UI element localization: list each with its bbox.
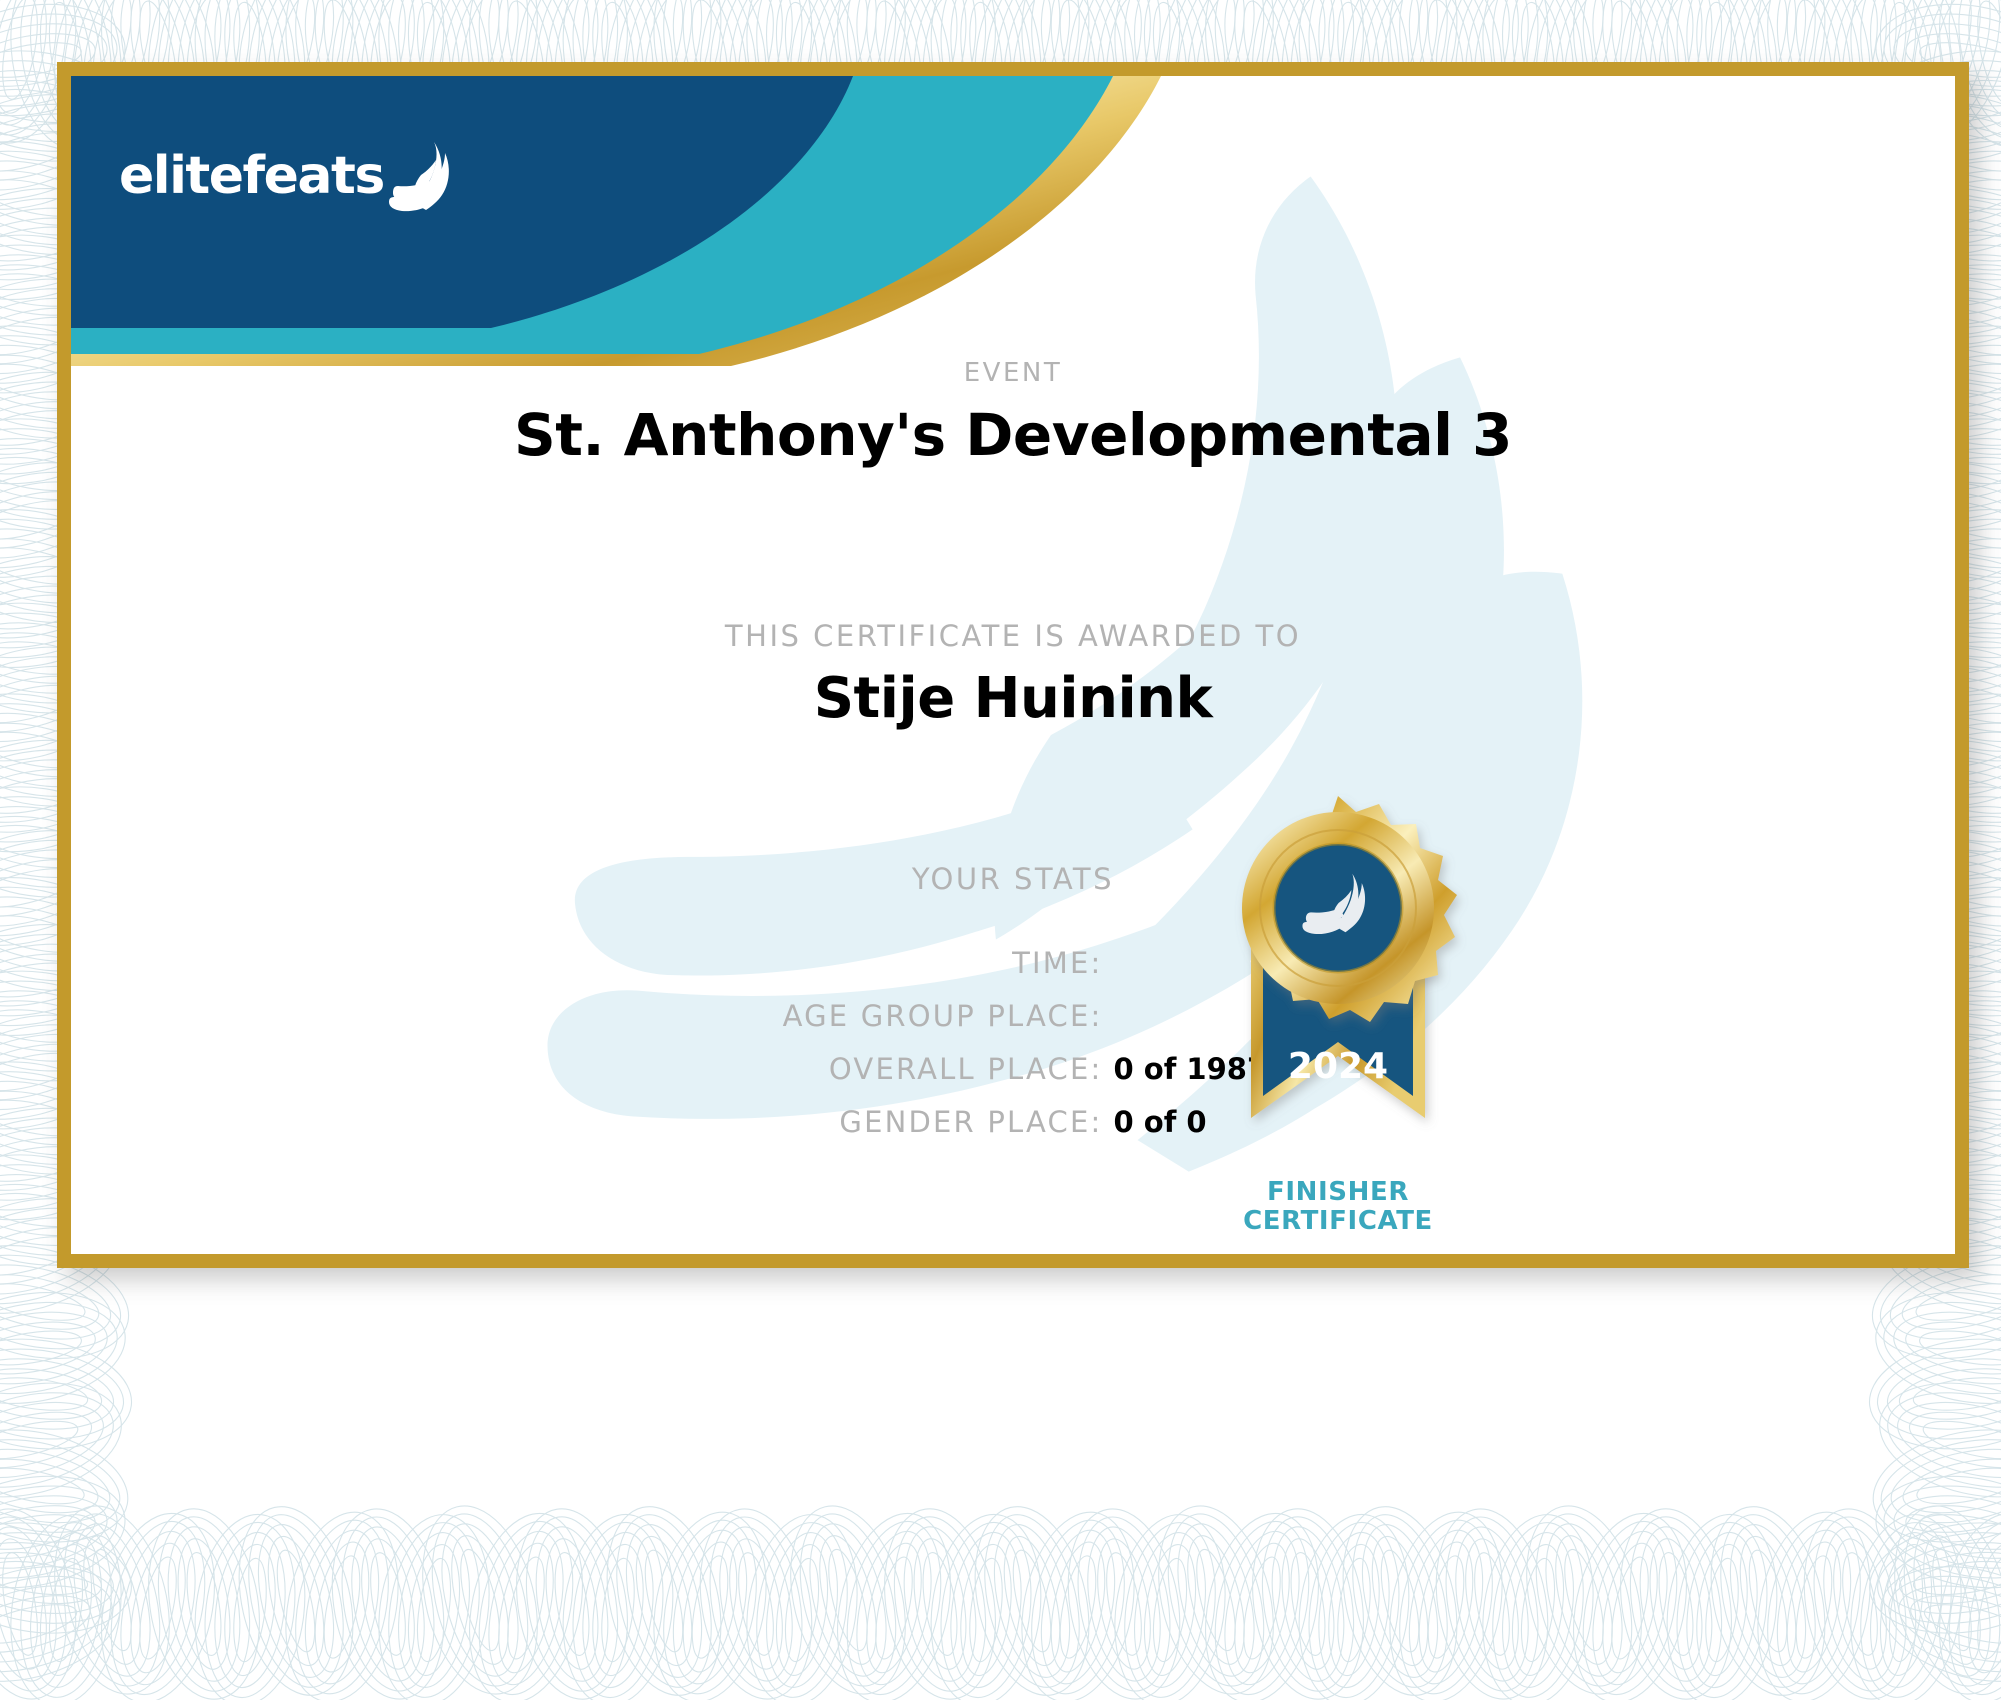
certificate-gold-frame: elitefeats EVENT St. Anthony's Developme…	[57, 62, 1969, 1268]
stat-row-time: TIME:	[71, 946, 1955, 999]
seal-caption: FINISHER CERTIFICATE	[1193, 1178, 1483, 1236]
seal-caption-line1: FINISHER	[1193, 1178, 1483, 1207]
stat-row-gender-place: GENDER PLACE: 0 of 0	[71, 1105, 1955, 1158]
finisher-seal: 2024 FINISHER CERTIFICATE	[1193, 788, 1483, 1218]
stat-key-time: TIME:	[573, 946, 1103, 980]
stat-row-age-group-place: AGE GROUP PLACE:	[71, 999, 1955, 1052]
certificate-canvas: elitefeats EVENT St. Anthony's Developme…	[71, 76, 1955, 1254]
elitefeats-logo: elitefeats	[119, 131, 479, 221]
stats-list: TIME: AGE GROUP PLACE: OVERALL PLACE: 0 …	[71, 946, 1955, 1158]
logo-wordmark: elitefeats	[119, 150, 384, 202]
stat-key-overall-place: OVERALL PLACE:	[573, 1052, 1103, 1086]
certificate-page: elitefeats EVENT St. Anthony's Developme…	[0, 0, 2001, 1700]
event-name: St. Anthony's Developmental 3	[71, 401, 1955, 469]
seal-caption-line2: CERTIFICATE	[1193, 1207, 1483, 1236]
header-swoosh-graphic	[71, 76, 1955, 366]
award-medal-icon: 2024	[1193, 788, 1483, 1188]
recipient-name: Stije Huinink	[71, 666, 1955, 731]
awarded-to-label: THIS CERTIFICATE IS AWARDED TO	[71, 619, 1955, 653]
your-stats-label: YOUR STATS	[71, 862, 1955, 896]
winged-foot-icon	[388, 140, 454, 212]
stat-row-overall-place: OVERALL PLACE: 0 of 1987	[71, 1052, 1955, 1105]
event-label: EVENT	[71, 358, 1955, 388]
stat-key-age-group-place: AGE GROUP PLACE:	[573, 999, 1103, 1033]
seal-year: 2024	[1288, 1046, 1388, 1087]
stat-key-gender-place: GENDER PLACE:	[573, 1105, 1103, 1139]
